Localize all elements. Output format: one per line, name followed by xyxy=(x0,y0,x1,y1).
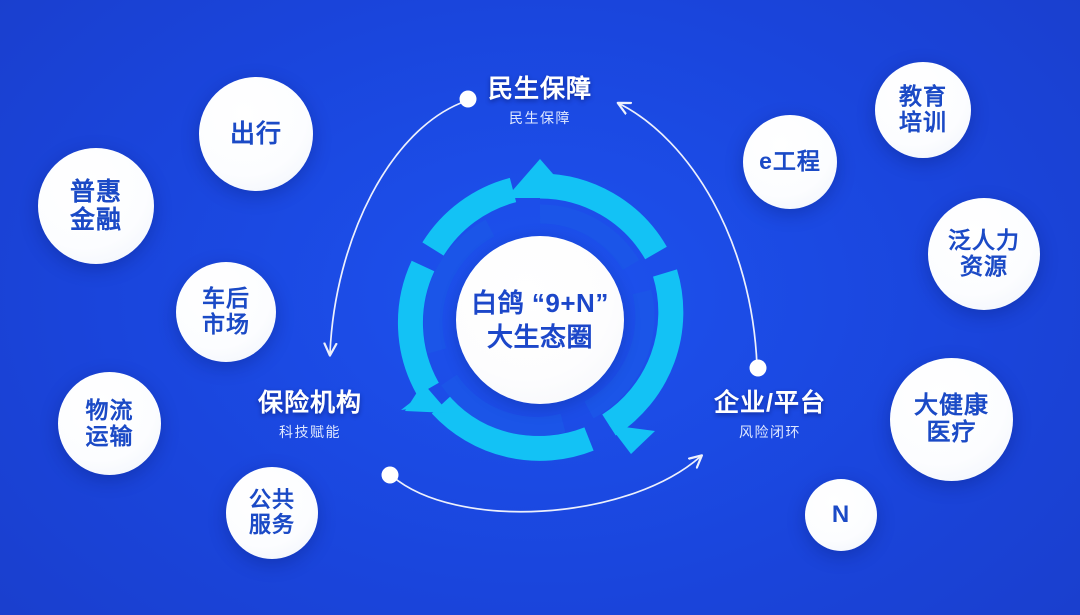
bubble-fan-renli-ziyuan[interactable]: 泛人力 资源 xyxy=(928,198,1040,310)
core-disc: 白鸽 “9+N” 大生态圈 xyxy=(456,236,624,404)
node-label-left[interactable]: 保险机构 科技赋能 xyxy=(200,388,420,442)
bubble-puhui-jinrong[interactable]: 普惠 金融 xyxy=(38,148,154,264)
bubble-e-gongcheng[interactable]: e工程 xyxy=(743,115,837,209)
bubble-label: 普惠 金融 xyxy=(70,178,122,234)
node-left-title: 保险机构 xyxy=(200,388,420,418)
bubble-label: 车后 市场 xyxy=(202,286,250,338)
node-left-subtitle: 科技赋能 xyxy=(200,422,420,442)
bubble-gonggong-fuwu[interactable]: 公共 服务 xyxy=(226,467,318,559)
bubble-da-jiankang-yiliao[interactable]: 大健康 医疗 xyxy=(890,358,1013,481)
bubble-chehou-shichang[interactable]: 车后 市场 xyxy=(176,262,276,362)
core-title-line1: 白鸽 “9+N” xyxy=(471,287,609,319)
node-label-right[interactable]: 企业/平台 风险闭环 xyxy=(660,388,880,442)
bubble-chuxing[interactable]: 出行 xyxy=(199,77,313,191)
bubble-n-node[interactable]: N xyxy=(805,479,877,551)
bubble-label: 教育 培训 xyxy=(899,84,947,136)
bubble-label: 泛人力 资源 xyxy=(948,228,1020,280)
node-label-top[interactable]: 民生保障 民生保障 xyxy=(488,74,592,128)
bubble-wuliu-yunshu[interactable]: 物流 运输 xyxy=(58,372,161,475)
bubble-jiaoyu-peixun[interactable]: 教育 培训 xyxy=(875,62,971,158)
bubble-label: 物流 运输 xyxy=(86,398,134,450)
node-right-title: 企业/平台 xyxy=(660,388,880,418)
node-top-title: 民生保障 xyxy=(488,74,592,104)
bubble-label: 出行 xyxy=(230,120,282,148)
bubble-label: N xyxy=(832,502,850,529)
infographic-canvas: 白鸽 “9+N” 大生态圈 民生保障 民生保障 保险机构 科技赋能 企业/平台 … xyxy=(0,0,1080,615)
bubble-label: e工程 xyxy=(759,149,821,175)
node-right-subtitle: 风险闭环 xyxy=(660,422,880,442)
bubble-label: 大健康 医疗 xyxy=(914,393,989,447)
core-title-line2: 大生态圈 xyxy=(487,321,593,353)
bubble-label: 公共 服务 xyxy=(249,488,295,537)
node-top-subtitle: 民生保障 xyxy=(488,108,592,128)
